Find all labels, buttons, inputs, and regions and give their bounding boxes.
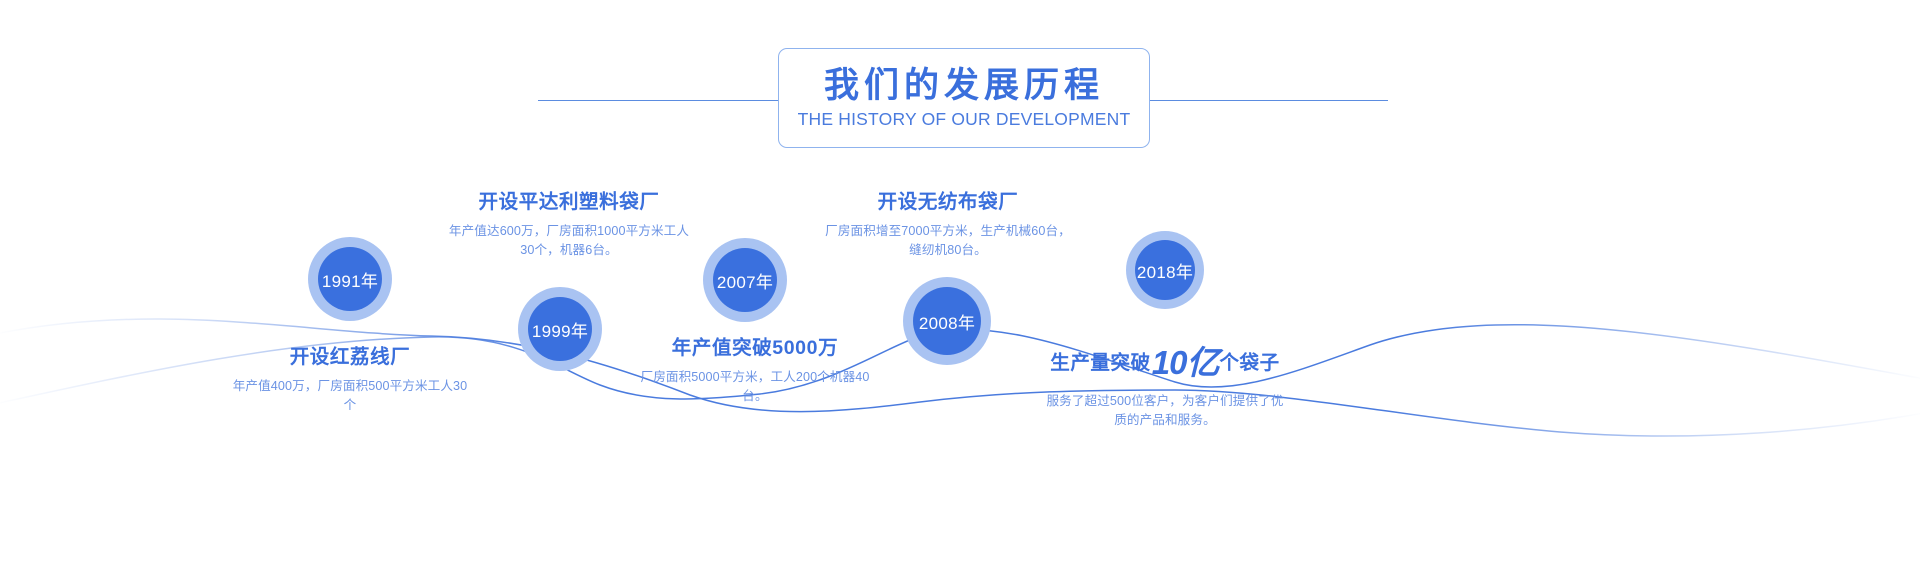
page-header: 我们的发展历程 THE HISTORY OF OUR DEVELOPMENT — [0, 48, 1920, 148]
node-core: 1991年 — [318, 247, 382, 311]
event-block-2018: 生产量突破10亿个袋子 服务了超过500位客户，为客户们提供了优质的产品和服务。 — [1000, 342, 1330, 429]
event-heading: 开设平达利塑料袋厂 — [404, 190, 734, 215]
event-heading: 开设无纺布袋厂 — [783, 190, 1113, 215]
node-year-label: 1991年 — [322, 267, 378, 292]
title-box: 我们的发展历程 THE HISTORY OF OUR DEVELOPMENT — [778, 48, 1150, 148]
event-block-1991: 开设红荔线厂 年产值400万，厂房面积500平方米工人30个 — [185, 345, 515, 415]
event-body: 服务了超过500位客户，为客户们提供了优质的产品和服务。 — [1000, 392, 1330, 429]
event-block-1999: 开设平达利塑料袋厂 年产值达600万，厂房面积1000平方米工人30个，机器6台… — [404, 190, 734, 260]
timeline-node-1991[interactable]: 1991年 — [308, 237, 392, 321]
timeline-node-2018[interactable]: 2018年 — [1126, 231, 1204, 309]
event-block-2008: 开设无纺布袋厂 厂房面积增至7000平方米，生产机械60台，缝纫机80台。 — [783, 190, 1113, 260]
event-heading-prefix: 生产量突破 — [1050, 352, 1151, 374]
node-year-label: 2018年 — [1137, 258, 1193, 283]
node-core: 2008年 — [913, 287, 981, 355]
header-rule-left — [538, 100, 778, 101]
event-heading-suffix: 个袋子 — [1219, 352, 1279, 374]
page-subtitle: THE HISTORY OF OUR DEVELOPMENT — [798, 109, 1131, 130]
event-heading: 生产量突破10亿个袋子 — [1000, 342, 1330, 385]
event-heading: 开设红荔线厂 — [185, 345, 515, 370]
event-body: 厂房面积5000平方米，工人200个机器40台。 — [590, 368, 920, 405]
event-heading: 年产值突破5000万 — [590, 336, 920, 361]
event-body: 年产值400万，厂房面积500平方米工人30个 — [185, 377, 515, 414]
event-heading-emphasis: 10亿 — [1151, 344, 1220, 381]
node-year-label: 2008年 — [919, 309, 975, 334]
node-year-label: 2007年 — [717, 268, 773, 293]
node-year-label: 1999年 — [532, 317, 588, 342]
node-core: 1999年 — [528, 297, 592, 361]
header-rule-right — [1148, 100, 1388, 101]
event-body: 厂房面积增至7000平方米，生产机械60台，缝纫机80台。 — [783, 222, 1113, 259]
page-title: 我们的发展历程 — [824, 66, 1104, 105]
event-body: 年产值达600万，厂房面积1000平方米工人30个，机器6台。 — [404, 222, 734, 259]
node-core: 2018年 — [1135, 240, 1195, 300]
event-block-2007: 年产值突破5000万 厂房面积5000平方米，工人200个机器40台。 — [590, 336, 920, 406]
